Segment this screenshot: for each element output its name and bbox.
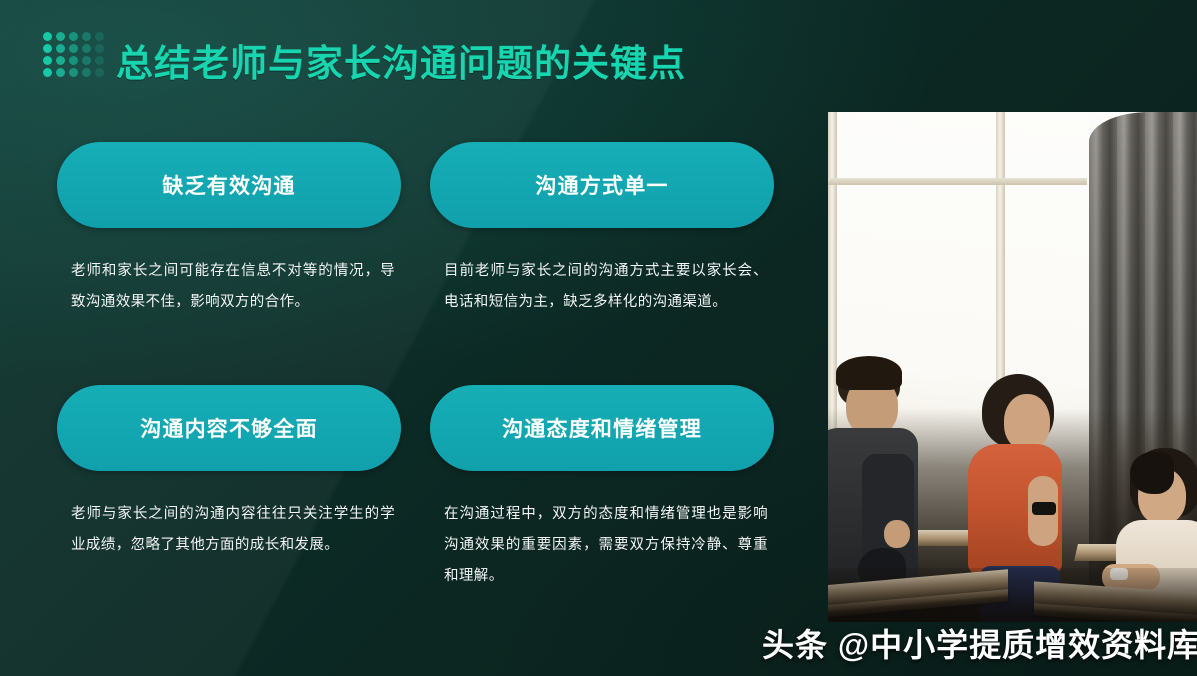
classroom-conversation-photo [828,112,1197,622]
card-heading-pill[interactable]: 沟通态度和情绪管理 [430,385,774,471]
card-heading-pill[interactable]: 沟通内容不够全面 [57,385,401,471]
photo-window-frame [828,178,1087,185]
card-lack-of-effective-communication: 缺乏有效沟通 老师和家长之间可能存在信息不对等的情况，导致沟通效果不佳，影响双方… [57,142,401,318]
card-heading-label: 沟通方式单一 [535,170,668,200]
card-incomplete-communication-content: 沟通内容不够全面 老师与家长之间的沟通内容往往只关注学生的学业成绩，忽略了其他方… [57,385,401,561]
card-heading-pill[interactable]: 沟通方式单一 [430,142,774,228]
slide-header: 总结老师与家长沟通问题的关键点 [0,0,1197,104]
card-body-text: 在沟通过程中，双方的态度和情绪管理也是影响沟通效果的重要因素，需要双方保持冷静、… [444,499,768,592]
card-single-communication-method: 沟通方式单一 目前老师与家长之间的沟通方式主要以家长会、电话和短信为主，缺乏多样… [430,142,774,318]
card-body-text: 老师和家长之间可能存在信息不对等的情况，导致沟通效果不佳，影响双方的合作。 [71,256,395,318]
card-heading-label: 沟通内容不够全面 [140,413,318,443]
page-title: 总结老师与家长沟通问题的关键点 [116,33,686,87]
card-body-text: 老师与家长之间的沟通内容往往只关注学生的学业成绩，忽略了其他方面的成长和发展。 [71,499,395,561]
watermark: 头条 @中小学提质增效资料库 [762,620,1197,666]
slide-root: 总结老师与家长沟通问题的关键点 缺乏有效沟通 老师和家长之间可能存在信息不对等的… [0,0,1197,676]
card-body-text: 目前老师与家长之间的沟通方式主要以家长会、电话和短信为主，缺乏多样化的沟通渠道。 [444,256,768,318]
card-heading-pill[interactable]: 缺乏有效沟通 [57,142,401,228]
dot-grid-icon [43,32,108,80]
watermark-platform: 头条 [762,627,828,663]
card-heading-label: 沟通态度和情绪管理 [502,413,702,443]
photo-bottom-shadow [828,568,1197,622]
photo-wristwatch [1032,502,1056,515]
card-heading-label: 缺乏有效沟通 [162,170,295,200]
watermark-handle: @中小学提质增效资料库 [838,627,1197,663]
card-attitude-and-emotion-management: 沟通态度和情绪管理 在沟通过程中，双方的态度和情绪管理也是影响沟通效果的重要因素… [430,385,774,592]
